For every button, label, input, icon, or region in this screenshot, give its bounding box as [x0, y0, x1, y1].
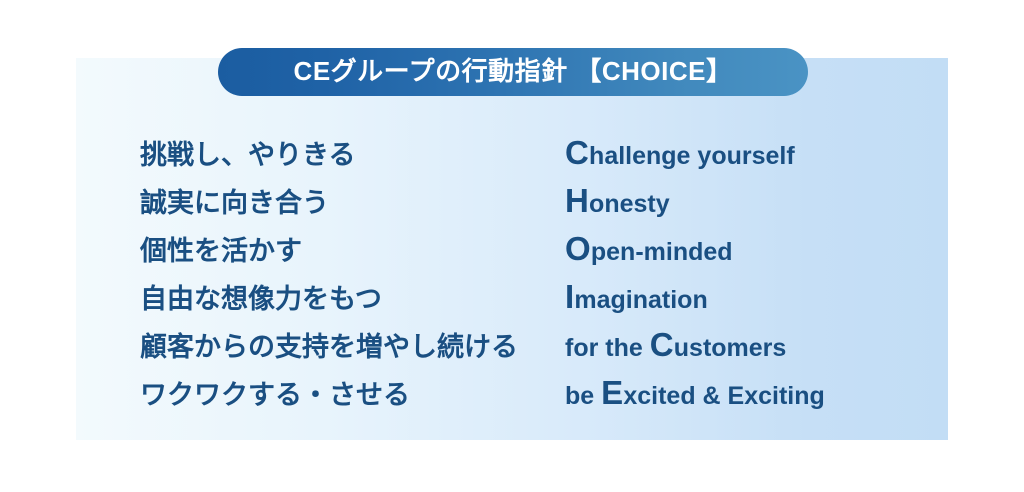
principle-row: ワクワクする・させる be Excited & Exciting — [140, 376, 930, 424]
principle-japanese: 自由な想像力をもつ — [140, 286, 565, 313]
acronym-letter: C — [650, 326, 674, 363]
principle-japanese: ワクワクする・させる — [140, 382, 565, 409]
acronym-letter: O — [565, 230, 591, 267]
english-rest: onesty — [589, 190, 670, 218]
principle-english: Open-minded — [565, 232, 733, 265]
banner-title: CEグループの行動指針 【CHOICE】 — [294, 58, 733, 84]
acronym-letter: I — [565, 278, 574, 315]
principle-japanese: 誠実に向き合う — [140, 190, 565, 217]
english-rest: ustomers — [674, 334, 787, 362]
english-rest: pen-minded — [591, 238, 733, 266]
english-rest: hallenge yourself — [589, 142, 795, 170]
english-prefix: be — [565, 382, 601, 410]
principle-japanese: 顧客からの支持を増やし続ける — [140, 334, 565, 361]
principle-row: 挑戦し、やりきる Challenge yourself — [140, 136, 930, 184]
english-rest: magination — [574, 286, 707, 314]
acronym-letter: H — [565, 182, 589, 219]
principle-row: 自由な想像力をもつ Imagination — [140, 280, 930, 328]
title-banner: CEグループの行動指針 【CHOICE】 — [218, 48, 808, 96]
principle-english: Challenge yourself — [565, 136, 795, 169]
acronym-letter: E — [601, 374, 623, 411]
principle-english: for the Customers — [565, 328, 786, 361]
principle-english: be Excited & Exciting — [565, 376, 825, 409]
principle-row: 個性を活かす Open-minded — [140, 232, 930, 280]
acronym-letter: C — [565, 134, 589, 171]
principle-row: 誠実に向き合う Honesty — [140, 184, 930, 232]
principle-english: Honesty — [565, 184, 670, 217]
principle-row: 顧客からの支持を増やし続ける for the Customers — [140, 328, 930, 376]
principle-japanese: 個性を活かす — [140, 238, 565, 265]
principles-list: 挑戦し、やりきる Challenge yourself 誠実に向き合う Hone… — [140, 136, 930, 424]
slide-canvas: CEグループの行動指針 【CHOICE】 挑戦し、やりきる Challenge … — [0, 0, 1024, 492]
principle-japanese: 挑戦し、やりきる — [140, 142, 565, 169]
english-rest: xcited & Exciting — [623, 382, 824, 410]
english-prefix: for the — [565, 334, 650, 362]
principle-english: Imagination — [565, 280, 708, 313]
